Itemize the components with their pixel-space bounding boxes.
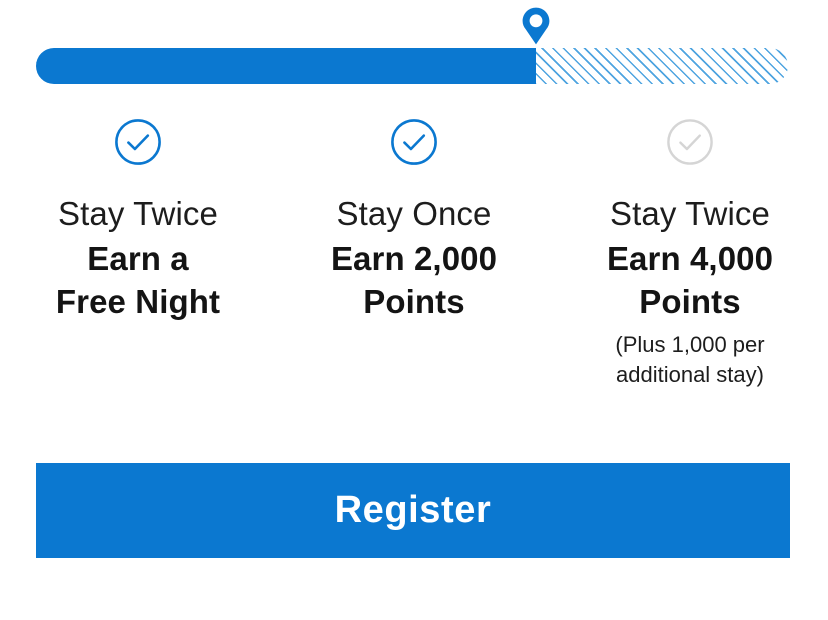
check-circle-icon [114, 118, 162, 166]
tier-note: (Plus 1,000 per additional stay) [580, 330, 800, 390]
tier-item-2: Stay Once Earn 2,000 Points [276, 118, 552, 390]
tier-headline: Earn 2,000 Points [331, 237, 497, 323]
tier-subtitle: Stay Once [337, 192, 492, 236]
register-button[interactable]: Register [36, 463, 790, 558]
tier-list: Stay Twice Earn a Free Night Stay Once E… [0, 118, 828, 390]
tier-headline-line-1: Earn a [56, 237, 220, 280]
tier-subtitle: Stay Twice [58, 192, 218, 236]
map-pin-icon [519, 6, 553, 46]
check-circle-icon [666, 118, 714, 166]
progress-bar-fill [36, 48, 536, 84]
check-circle-icon [390, 118, 438, 166]
tier-item-3: Stay Twice Earn 4,000 Points (Plus 1,000… [552, 118, 828, 390]
tier-headline-line-2: Free Night [56, 280, 220, 323]
tier-item-1: Stay Twice Earn a Free Night [0, 118, 276, 390]
tier-headline-line-2: Points [331, 280, 497, 323]
tier-headline-line-1: Earn 4,000 [607, 237, 773, 280]
progress-bar-track [36, 48, 788, 84]
progress-region [0, 0, 828, 100]
tier-subtitle: Stay Twice [610, 192, 770, 236]
tier-headline-line-1: Earn 2,000 [331, 237, 497, 280]
tier-headline: Earn a Free Night [56, 237, 220, 323]
tier-headline: Earn 4,000 Points [607, 237, 773, 323]
tier-headline-line-2: Points [607, 280, 773, 323]
